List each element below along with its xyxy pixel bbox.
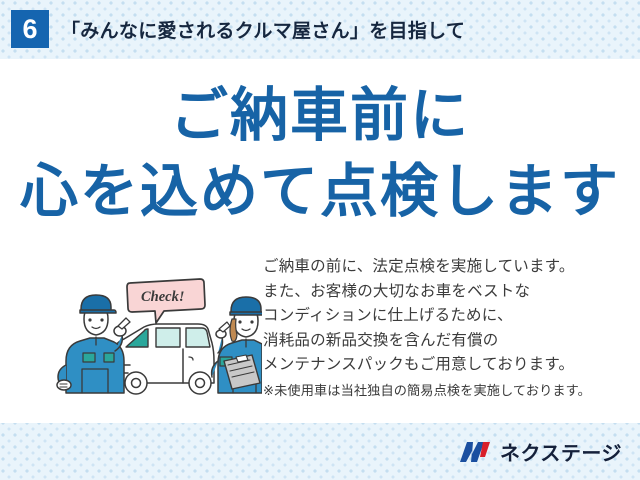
- body-text-block: ご納車の前に、法定点検を実施しています。 また、お客様の大切なお車をベストな コ…: [263, 255, 631, 402]
- body-line: コンディションに仕上げるために、: [263, 304, 631, 329]
- mechanic-female: [212, 297, 262, 393]
- body-line: メンテナンスパックもご用意しております。: [263, 353, 631, 378]
- section-header: 6 「みんなに愛されるクルマ屋さん」を目指して: [0, 0, 640, 58]
- mechanics-illustration: Check!: [52, 265, 262, 405]
- nextage-logo-mark: [459, 440, 493, 464]
- van-illustration: [114, 324, 214, 394]
- body-line: また、お客様の大切なお車をベストな: [263, 280, 631, 305]
- nextage-logo: ネクステージ: [459, 437, 622, 466]
- content-panel: ご納車前に 心を込めて点検します: [0, 59, 640, 423]
- headline-line-2: 心を込めて点検します: [0, 163, 640, 221]
- body-note: ※未使用車は当社独自の簡易点検を実施しております。: [263, 380, 631, 402]
- check-bubble-label: Check!: [141, 289, 185, 305]
- nextage-brand-name: ネクステージ: [500, 437, 622, 466]
- body-line: 消耗品の新品交換を含んだ有償の: [263, 329, 631, 354]
- header-title: 「みんなに愛されるクルマ屋さん」を目指して: [61, 16, 465, 43]
- section-footer: ネクステージ: [0, 423, 640, 480]
- headline-line-1: ご納車前に: [0, 87, 640, 145]
- section-number-badge: 6: [11, 10, 49, 48]
- body-line: ご納車の前に、法定点検を実施しています。: [263, 255, 631, 280]
- mechanic-male: [57, 295, 130, 393]
